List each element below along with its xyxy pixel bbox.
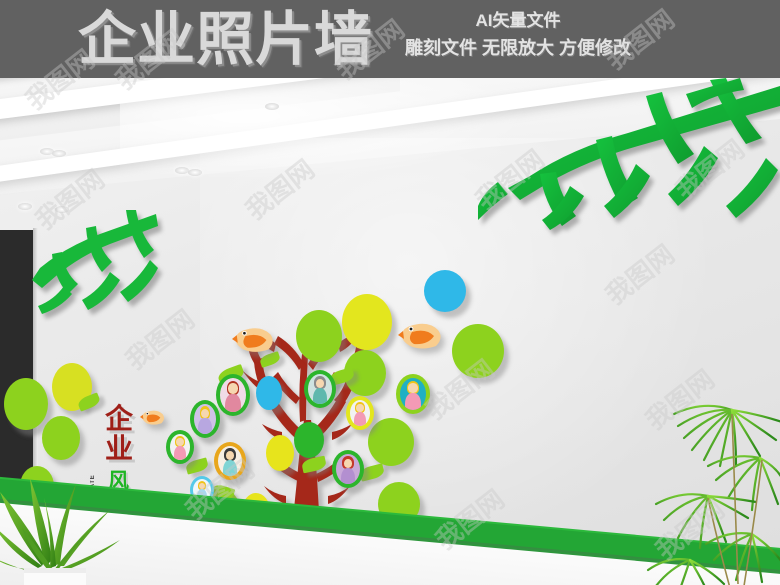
photo-frame-8[interactable]	[396, 374, 430, 414]
potted-plant-left	[0, 448, 124, 585]
photo-frame-photo	[308, 374, 332, 404]
downlight-icon	[265, 103, 279, 110]
avatar-body	[405, 393, 421, 410]
photo-frame-photo	[194, 404, 216, 434]
circle-lime-right-3	[368, 418, 414, 466]
branch-decor-top-right	[478, 78, 780, 268]
avatar-body	[174, 446, 186, 460]
circle-green-tree	[294, 422, 324, 458]
avatar-head	[176, 438, 183, 446]
header-banner: 企业照片墙 AI矢量文件 雕刻文件 无限放大 方便修改	[0, 0, 780, 78]
avatar-body	[341, 468, 355, 484]
photo-frame-photo	[336, 454, 360, 484]
photo-frame-3[interactable]	[216, 374, 250, 416]
avatar-head	[344, 459, 353, 468]
circle-lime-right-big	[452, 324, 504, 378]
downlight-icon	[52, 150, 66, 157]
photo-frame-2[interactable]	[190, 400, 220, 438]
avatar-body	[354, 412, 366, 426]
circle-blue-small	[256, 376, 282, 410]
photo-frame-9[interactable]	[332, 450, 364, 488]
potted-palm-right	[612, 374, 780, 585]
photo-frame-photo	[400, 378, 426, 410]
banner-subtitle-line1: AI矢量文件	[378, 8, 658, 34]
avatar-body	[225, 394, 241, 412]
avatar-body	[223, 460, 237, 476]
avatar-head	[356, 404, 363, 412]
photo-frame-photo	[218, 446, 242, 476]
photo-frame-7[interactable]	[346, 396, 374, 430]
downlight-icon	[175, 167, 189, 174]
avatar-body	[313, 388, 327, 404]
avatar-head	[228, 383, 237, 393]
avatar-head	[201, 409, 209, 418]
photo-frame-photo	[220, 378, 246, 412]
downlight-icon	[18, 203, 32, 210]
photo-frame-photo	[350, 400, 370, 426]
avatar-head	[226, 451, 235, 460]
photo-frame-photo	[170, 434, 190, 460]
bird-right	[398, 320, 444, 350]
page-title: 企业照片墙	[78, 6, 373, 72]
screenshot-root: 企业照片墙 AI矢量文件 雕刻文件 无限放大 方便修改	[0, 0, 780, 585]
circle-yellow-tree-1	[266, 435, 294, 471]
banner-subtitle-line2: 雕刻文件 无限放大 方便修改	[378, 34, 658, 62]
branch-decor-upper-left	[30, 210, 160, 315]
office-wall-scene: 企 业 CORPORATE STYLE 风 采 没有完美的个人 只有完美的团队	[0, 78, 780, 585]
vertical-title-char-1: 企	[88, 404, 150, 434]
photo-frame-6[interactable]	[304, 370, 336, 408]
circle-blue-top	[424, 270, 466, 312]
circle-lime-mid	[296, 310, 342, 362]
avatar-head	[316, 379, 325, 388]
avatar-head	[408, 383, 417, 393]
bird-left	[232, 324, 276, 354]
photo-frame-1[interactable]	[166, 430, 194, 464]
photo-frame-4[interactable]	[214, 442, 246, 480]
banner-subtitle-block: AI矢量文件 雕刻文件 无限放大 方便修改	[378, 8, 658, 62]
circle-yellow-top	[342, 294, 392, 350]
avatar-body	[198, 418, 211, 434]
circle-lime-far-left	[4, 378, 48, 430]
